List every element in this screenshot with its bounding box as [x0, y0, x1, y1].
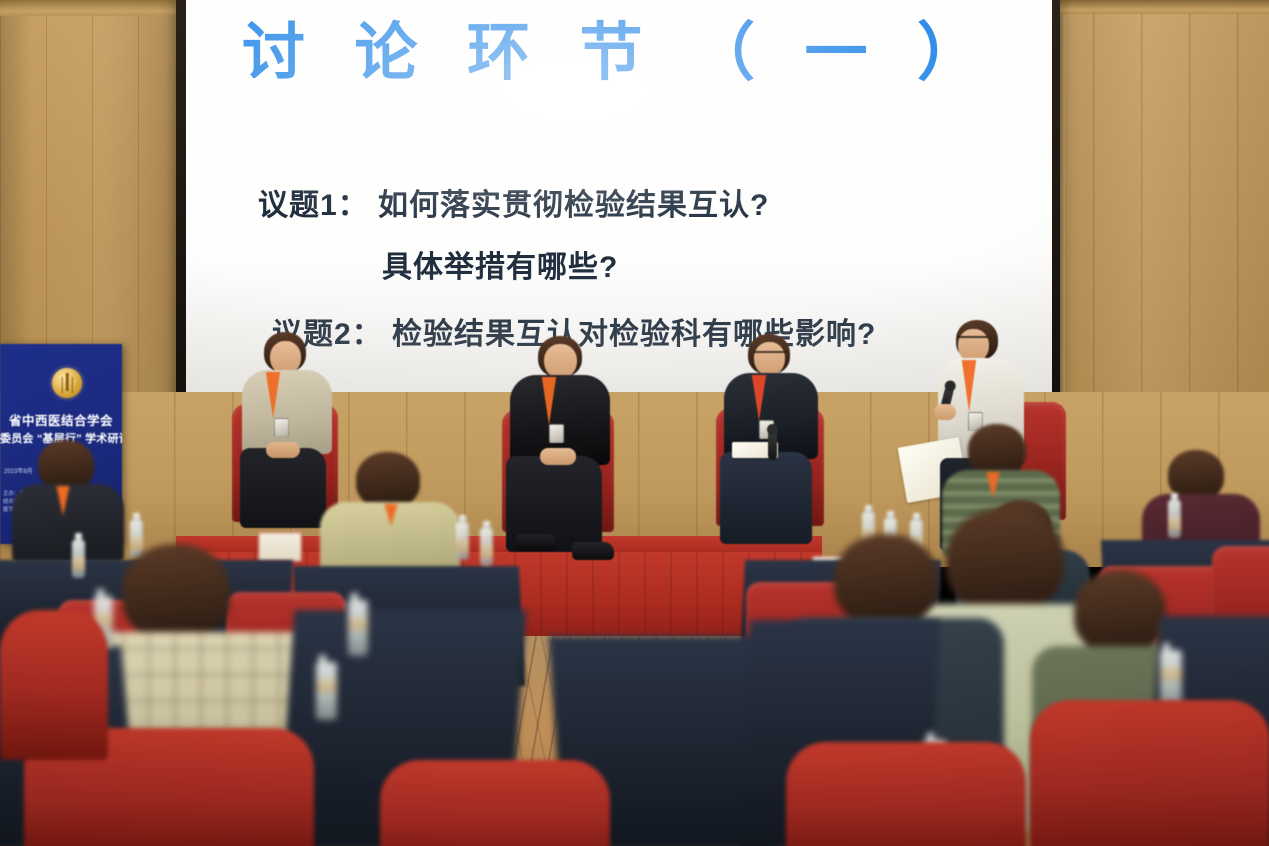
projection-screen: 讨 论 环 节 （ 一 ） 议题1： 如何落实贯彻检验结果互认? 具体举措有哪些…	[186, 0, 1052, 424]
panelist-legs	[720, 452, 812, 544]
panelist-glasses-icon	[754, 351, 785, 358]
banner-date: 2023年8月	[4, 466, 33, 475]
audience-head	[834, 534, 938, 626]
panelist-hands	[266, 442, 300, 458]
panelist-face	[544, 344, 577, 379]
water-bottle	[1168, 500, 1181, 538]
panelist-shoe	[572, 542, 614, 560]
panelist-badge	[549, 424, 564, 443]
audience-lanyard	[56, 486, 69, 516]
slide-line-1: 议题1： 如何落实贯彻检验结果互认?	[258, 180, 769, 224]
panelist-face	[754, 342, 785, 376]
audience-head	[122, 544, 230, 640]
slide-line-2: 具体举措有哪些?	[382, 242, 618, 286]
water-bottle	[72, 540, 85, 578]
water-bottle	[348, 600, 368, 656]
audience-head	[356, 452, 420, 508]
banner-line-1: 省中西医结合学会	[0, 410, 122, 429]
slide-title: 讨 论 环 节 （ 一 ）	[186, 20, 1052, 86]
moderator-hand	[934, 404, 956, 420]
table-microphone	[768, 430, 777, 460]
foreground-chair	[786, 742, 1026, 846]
water-bottle	[456, 522, 469, 560]
delegate-name-card	[258, 532, 302, 562]
wall-top-trim	[0, 0, 176, 16]
audience-lanyard	[384, 504, 397, 526]
audience-head	[38, 440, 94, 490]
panelist-badge	[274, 418, 289, 437]
foreground-chair	[380, 760, 610, 846]
audience-head	[968, 424, 1026, 476]
panelist-lanyard	[266, 372, 280, 418]
water-bottle	[480, 528, 493, 566]
wall-top-trim-right	[1045, 0, 1269, 14]
panelist-lanyard	[542, 377, 556, 425]
water-bottle	[316, 662, 337, 720]
water-bottle	[130, 520, 143, 558]
audience-lanyard	[986, 472, 999, 498]
moderator-glasses-icon	[958, 336, 988, 343]
conference-hall-photo: 讨 论 环 节 （ 一 ） 议题1： 如何落实贯彻检验结果互认? 具体举措有哪些…	[0, 0, 1269, 846]
panelist-hands	[540, 448, 576, 465]
foreground-chair	[0, 610, 108, 760]
audience-head	[946, 508, 1064, 612]
foreground-chair	[1030, 700, 1269, 846]
panelist-lanyard	[752, 375, 766, 421]
society-emblem-icon	[52, 368, 82, 398]
audience-head	[1074, 570, 1166, 654]
moderator-lanyard	[962, 360, 976, 412]
panelist-legs	[240, 448, 326, 528]
panelist-shoe-2	[516, 534, 556, 551]
